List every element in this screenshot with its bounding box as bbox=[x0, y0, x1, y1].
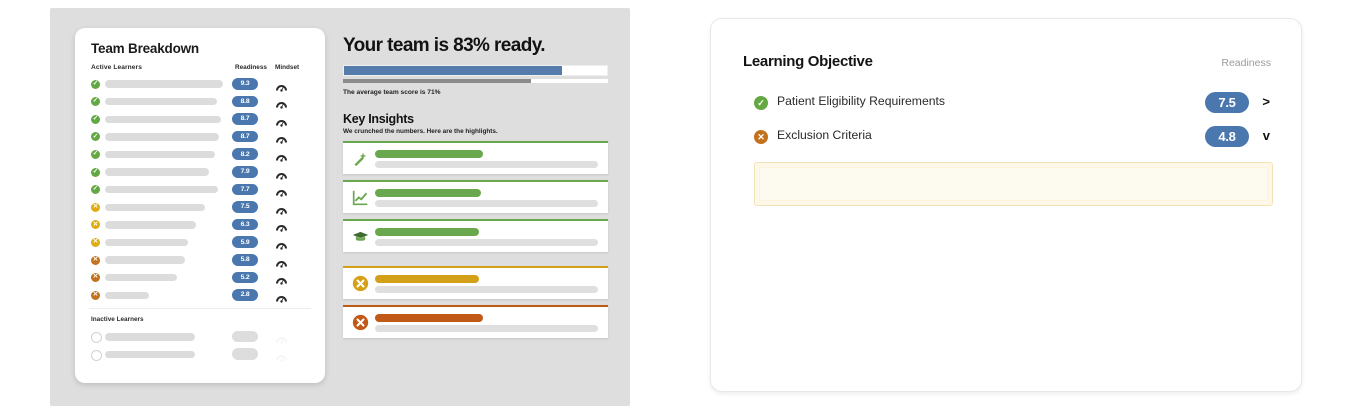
learner-name-placeholder bbox=[105, 80, 223, 87]
team-average-progress-fill bbox=[343, 79, 531, 83]
table-row[interactable]: ✓8.7 bbox=[75, 128, 325, 146]
average-score-note: The average team score is 71% bbox=[343, 89, 608, 96]
table-row[interactable]: — bbox=[75, 345, 325, 363]
insight-card[interactable] bbox=[343, 266, 608, 299]
table-row[interactable]: ✓8.7 bbox=[75, 110, 325, 128]
key-insights-title: Key Insights bbox=[343, 112, 608, 126]
insight-body-placeholder bbox=[375, 200, 598, 207]
team-breakdown-title: Team Breakdown bbox=[91, 41, 199, 56]
learner-name-placeholder bbox=[105, 239, 188, 246]
chevron-down-icon[interactable]: v bbox=[1263, 128, 1270, 143]
status-alert-icon: ✕ bbox=[91, 256, 100, 265]
gauge-icon bbox=[275, 184, 288, 195]
notice-box-inner bbox=[759, 167, 1268, 201]
insight-card[interactable] bbox=[343, 305, 608, 338]
team-summary: Your team is 83% ready. The average team… bbox=[343, 36, 608, 338]
gauge-icon bbox=[275, 255, 288, 266]
insight-body-placeholder bbox=[375, 161, 598, 168]
team-ready-progress bbox=[343, 65, 608, 76]
status-alert-icon: ✕ bbox=[91, 291, 100, 300]
key-insights-list bbox=[343, 141, 608, 338]
learner-name-placeholder bbox=[105, 333, 195, 340]
insight-headline-placeholder bbox=[375, 228, 479, 236]
table-row[interactable]: — bbox=[75, 328, 325, 346]
status-inactive-icon bbox=[91, 350, 102, 361]
learner-name-placeholder bbox=[105, 292, 149, 299]
status-complete-icon: ✓ bbox=[91, 115, 100, 124]
gauge-icon bbox=[275, 237, 288, 248]
gauge-icon bbox=[275, 272, 288, 283]
column-header-mindset: Mindset bbox=[275, 64, 299, 71]
learner-name-placeholder bbox=[105, 133, 219, 140]
insight-headline-placeholder bbox=[375, 189, 481, 197]
learner-name-placeholder bbox=[105, 116, 221, 123]
objective-label: Exclusion Criteria bbox=[777, 128, 872, 142]
gauge-icon bbox=[275, 290, 288, 301]
magic-wand-icon bbox=[352, 150, 369, 167]
status-inactive-icon bbox=[91, 332, 102, 343]
active-learners-label: Active Learners bbox=[91, 64, 142, 71]
table-row[interactable]: ✕7.5 bbox=[75, 198, 325, 216]
readiness-badge[interactable]: 4.8 bbox=[1205, 126, 1249, 147]
status-alert-icon: ✕ bbox=[754, 130, 768, 144]
insight-headline-placeholder bbox=[375, 275, 479, 283]
readiness-score-badge[interactable]: 9.3 bbox=[232, 78, 258, 90]
status-complete-icon: ✓ bbox=[91, 150, 100, 159]
objective-label: Patient Eligibility Requirements bbox=[777, 94, 945, 108]
insight-headline-placeholder bbox=[375, 150, 483, 158]
key-insights-subtitle: We crunched the numbers. Here are the hi… bbox=[343, 128, 608, 135]
readiness-score-badge[interactable]: 8.8 bbox=[232, 96, 258, 108]
insight-headline-placeholder bbox=[375, 314, 483, 322]
insight-body-placeholder bbox=[375, 286, 598, 293]
status-complete-icon: ✓ bbox=[91, 80, 100, 89]
screenshot-root: Team Breakdown Active Learners Readiness… bbox=[0, 0, 1360, 420]
gauge-icon bbox=[275, 149, 288, 160]
gauge-icon bbox=[275, 114, 288, 125]
learner-name-placeholder bbox=[105, 221, 196, 228]
readiness-score-badge: — bbox=[232, 348, 258, 360]
readiness-score-badge[interactable]: 8.7 bbox=[232, 113, 258, 125]
table-row[interactable]: ✓8.8 bbox=[75, 93, 325, 111]
readiness-score-badge[interactable]: 8.7 bbox=[232, 131, 258, 143]
learner-name-placeholder bbox=[105, 186, 218, 193]
team-average-progress bbox=[343, 79, 608, 83]
readiness-score-badge[interactable]: 8.2 bbox=[232, 148, 258, 160]
readiness-badge[interactable]: 7.5 bbox=[1205, 92, 1249, 113]
readiness-score-badge[interactable]: 5.9 bbox=[232, 236, 258, 248]
notice-box bbox=[754, 162, 1273, 206]
gauge-icon bbox=[275, 331, 288, 342]
left-figure: Team Breakdown Active Learners Readiness… bbox=[50, 8, 630, 406]
status-complete-icon: ✓ bbox=[91, 168, 100, 177]
learner-name-placeholder bbox=[105, 168, 209, 175]
status-complete-icon: ✓ bbox=[91, 185, 100, 194]
learning-objective-card: Learning Objective Readiness ✓ Patient E… bbox=[710, 18, 1302, 392]
gauge-icon bbox=[275, 202, 288, 213]
gauge-icon bbox=[275, 79, 288, 90]
readiness-score-badge[interactable]: 7.5 bbox=[232, 201, 258, 213]
objective-row-patient-eligibility[interactable]: ✓ Patient Eligibility Requirements 7.5 > bbox=[754, 93, 1279, 113]
learner-list: ✓9.3✓8.8✓8.7✓8.7✓8.2✓7.9✓7.7✕7.5✕6.3✕5.9… bbox=[75, 75, 325, 304]
table-row[interactable]: ✕5.9 bbox=[75, 233, 325, 251]
readiness-score-badge[interactable]: 7.7 bbox=[232, 184, 258, 196]
table-row[interactable]: ✕5.8 bbox=[75, 251, 325, 269]
objective-row-exclusion-criteria[interactable]: ✕ Exclusion Criteria 4.8 v bbox=[754, 127, 1279, 147]
gauge-icon bbox=[275, 167, 288, 178]
learner-name-placeholder bbox=[105, 351, 195, 358]
readiness-score-badge: — bbox=[232, 331, 258, 343]
table-row[interactable]: ✕5.2 bbox=[75, 269, 325, 287]
team-ready-progress-fill bbox=[344, 66, 562, 75]
table-row[interactable]: ✓7.9 bbox=[75, 163, 325, 181]
readiness-score-badge[interactable]: 6.3 bbox=[232, 219, 258, 231]
status-complete-icon: ✓ bbox=[91, 97, 100, 106]
team-breakdown-card: Team Breakdown Active Learners Readiness… bbox=[75, 28, 325, 383]
readiness-score-badge[interactable]: 5.2 bbox=[232, 272, 258, 284]
insight-card[interactable] bbox=[343, 180, 608, 213]
learner-name-placeholder bbox=[105, 256, 185, 263]
status-alert-icon: ✕ bbox=[91, 273, 100, 282]
status-complete-icon: ✓ bbox=[91, 132, 100, 141]
table-row[interactable]: ✓9.3 bbox=[75, 75, 325, 93]
readiness-score-badge[interactable]: 7.9 bbox=[232, 166, 258, 178]
insight-card[interactable] bbox=[343, 141, 608, 174]
readiness-column-label: Readiness bbox=[1221, 57, 1271, 69]
learning-objective-title: Learning Objective bbox=[743, 53, 873, 70]
team-ready-headline: Your team is 83% ready. bbox=[343, 36, 608, 55]
insight-body-placeholder bbox=[375, 325, 598, 332]
status-warning-icon: ✕ bbox=[91, 238, 100, 247]
chevron-right-icon[interactable]: > bbox=[1262, 94, 1270, 109]
section-divider bbox=[89, 308, 311, 309]
column-header-readiness: Readiness bbox=[235, 64, 267, 71]
readiness-score-badge[interactable]: 5.8 bbox=[232, 254, 258, 266]
insight-card[interactable] bbox=[343, 219, 608, 252]
inactive-learners-label: Inactive Learners bbox=[91, 316, 144, 323]
inactive-learner-list: —— bbox=[75, 328, 325, 363]
learner-name-placeholder bbox=[105, 274, 177, 281]
table-row[interactable]: ✕2.8 bbox=[75, 286, 325, 304]
readiness-score-badge[interactable]: 2.8 bbox=[232, 289, 258, 301]
line-chart-icon bbox=[352, 189, 369, 206]
gauge-icon bbox=[275, 219, 288, 230]
table-row[interactable]: ✕6.3 bbox=[75, 216, 325, 234]
learner-name-placeholder bbox=[105, 98, 217, 105]
learner-name-placeholder bbox=[105, 151, 215, 158]
status-warning-icon: ✕ bbox=[91, 203, 100, 212]
gauge-icon bbox=[275, 96, 288, 107]
x-circle-icon bbox=[352, 275, 369, 292]
status-warning-icon: ✕ bbox=[91, 220, 100, 229]
graduation-cap-icon bbox=[352, 228, 369, 245]
learner-name-placeholder bbox=[105, 204, 205, 211]
x-circle-icon bbox=[352, 314, 369, 331]
table-row[interactable]: ✓7.7 bbox=[75, 181, 325, 199]
status-complete-icon: ✓ bbox=[754, 96, 768, 110]
insight-body-placeholder bbox=[375, 239, 598, 246]
gauge-icon bbox=[275, 349, 288, 360]
table-row[interactable]: ✓8.2 bbox=[75, 145, 325, 163]
gauge-icon bbox=[275, 131, 288, 142]
